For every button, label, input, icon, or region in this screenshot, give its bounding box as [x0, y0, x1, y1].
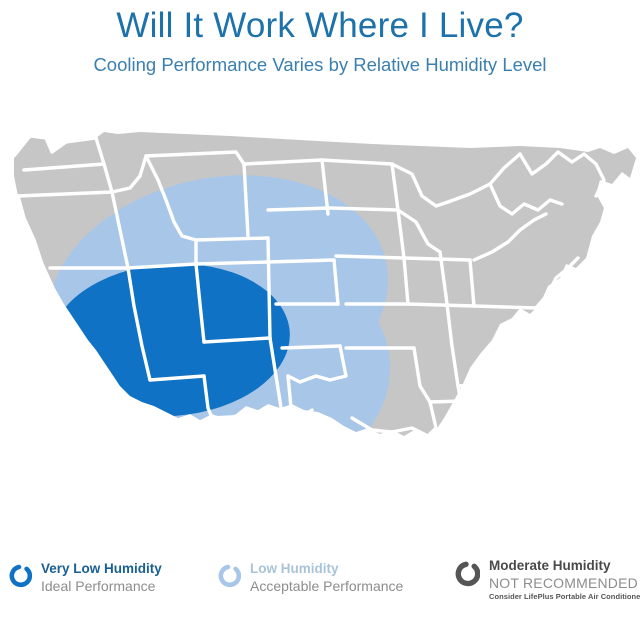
legend-item-moderate-humidity[interactable]: Moderate Humidity NOT RECOMMENDED Consid…: [452, 558, 640, 602]
legend: Very Low Humidity Ideal Performance Low …: [0, 555, 640, 625]
ring-icon: [215, 563, 241, 589]
legend-item-very-low-humidity[interactable]: Very Low Humidity Ideal Performance: [6, 561, 162, 594]
page-title: Will It Work Where I Live?: [0, 6, 640, 45]
legend-item-low-humidity[interactable]: Low Humidity Acceptable Performance: [215, 561, 403, 594]
legend-text: Low Humidity Acceptable Performance: [250, 561, 403, 594]
ring-icon: [6, 563, 32, 589]
map-container: [0, 118, 640, 538]
humidity-map-infographic: Will It Work Where I Live? Cooling Perfo…: [0, 0, 640, 640]
legend-title: Very Low Humidity: [41, 561, 162, 577]
legend-subtitle: Acceptable Performance: [250, 578, 403, 595]
page-subtitle: Cooling Performance Varies by Relative H…: [0, 54, 640, 75]
legend-subtitle: Ideal Performance: [41, 578, 162, 595]
legend-text: Very Low Humidity Ideal Performance: [41, 561, 162, 594]
header: Will It Work Where I Live? Cooling Perfo…: [0, 0, 640, 75]
ring-icon: [452, 560, 480, 588]
legend-title: Moderate Humidity: [489, 558, 640, 574]
legend-text: Moderate Humidity NOT RECOMMENDED Consid…: [489, 558, 640, 602]
united-states-map: [0, 118, 640, 538]
legend-fine-print: Consider LifePlus Portable Air Condition…: [489, 593, 640, 602]
legend-subtitle: NOT RECOMMENDED: [489, 575, 640, 592]
legend-title: Low Humidity: [250, 561, 403, 577]
